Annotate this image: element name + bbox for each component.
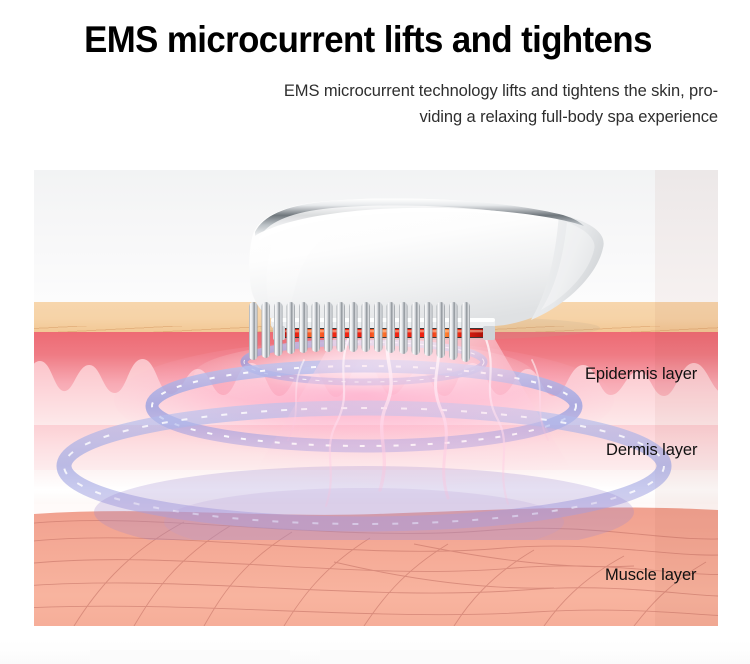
- page-title: EMS microcurrent lifts and tightens: [22, 18, 714, 62]
- page-subtitle-line-2: viding a relaxing full-body spa experien…: [420, 108, 718, 126]
- device-electrode-teeth: [248, 302, 476, 364]
- page-subtitle: EMS microcurrent technology lifts and ti…: [198, 78, 718, 130]
- bottom-white-margin: [0, 640, 750, 664]
- layer-label-dermis: Dermis layer: [606, 442, 697, 459]
- layer-label-epidermis: Epidermis layer: [585, 366, 697, 383]
- muscle-fiber-texture: [34, 504, 718, 626]
- header-block: EMS microcurrent lifts and tightens EMS …: [0, 0, 750, 150]
- muscle-layer-band: [34, 504, 718, 626]
- layer-label-muscle: Muscle layer: [605, 567, 696, 584]
- skin-cross-section-illustration: Epidermis layer Dermis layer Muscle laye…: [34, 170, 718, 626]
- page-subtitle-line-1: EMS microcurrent technology lifts and ti…: [284, 82, 718, 100]
